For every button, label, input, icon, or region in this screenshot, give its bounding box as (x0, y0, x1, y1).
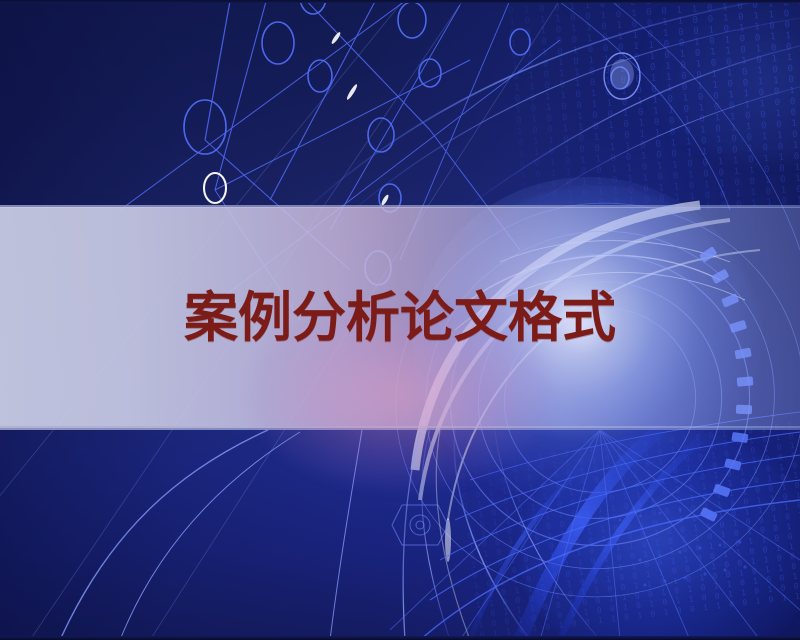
title-container: 案例分析论文格式 (0, 207, 800, 428)
page-title: 案例分析论文格式 (184, 291, 616, 345)
title-slide: 0 1 0 0 1 1 0 0 0 1 0 1 1 0 0 1 0 0 1 1 … (0, 0, 800, 640)
bottom-edge-line (0, 636, 800, 640)
top-edge-line (0, 0, 800, 3)
